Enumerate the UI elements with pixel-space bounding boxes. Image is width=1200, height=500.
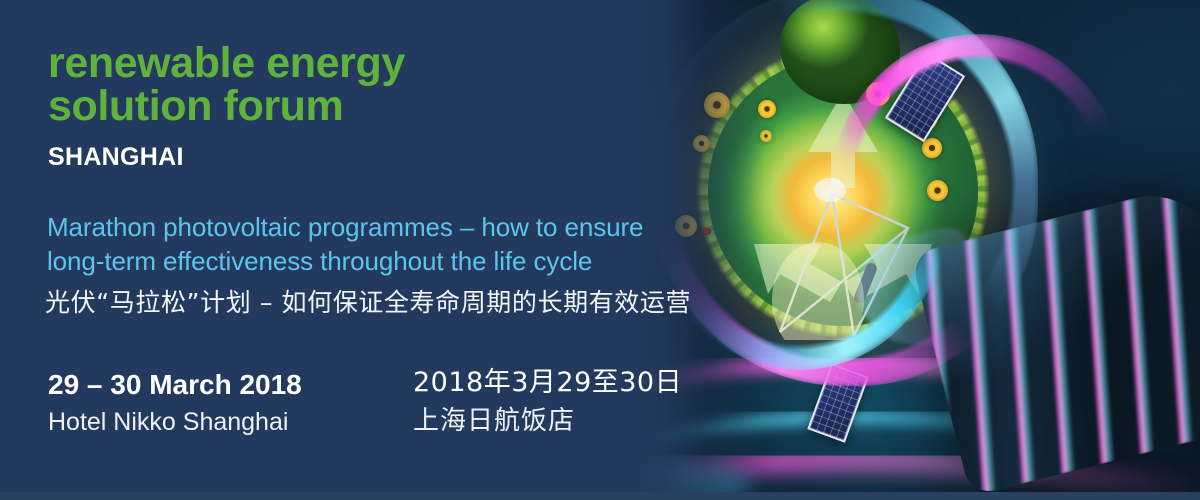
text-panel: renewable energy solution forum SHANGHAI…: [0, 0, 740, 500]
subtitle-line-1: Marathon photovoltaic programmes – how t…: [47, 210, 643, 244]
subtitle-english: Marathon photovoltaic programmes – how t…: [47, 210, 643, 278]
city-label: SHANGHAI: [48, 143, 184, 172]
title-line-2: solution forum: [48, 85, 405, 128]
page-title: renewable energy solution forum: [48, 42, 405, 128]
event-venue-chinese: 上海日航饭店: [413, 404, 682, 438]
event-venue-english: Hotel Nikko Shanghai: [48, 406, 302, 439]
event-date-chinese: 2018年3月29至30日: [413, 366, 682, 400]
event-banner: renewable energy solution forum SHANGHAI…: [0, 0, 1200, 500]
event-details-english: 29 – 30 March 2018 Hotel Nikko Shanghai: [48, 368, 302, 439]
event-details-chinese: 2018年3月29至30日 上海日航饭店: [413, 366, 682, 438]
bottom-edge-band: [0, 492, 1200, 500]
event-date-english: 29 – 30 March 2018: [48, 368, 302, 401]
subtitle-chinese: 光伏“马拉松”计划 – 如何保证全寿命周期的长期有效运营: [45, 288, 691, 318]
title-line-1: renewable energy: [48, 42, 405, 85]
subtitle-line-2: long-term effectiveness throughout the l…: [47, 244, 643, 278]
